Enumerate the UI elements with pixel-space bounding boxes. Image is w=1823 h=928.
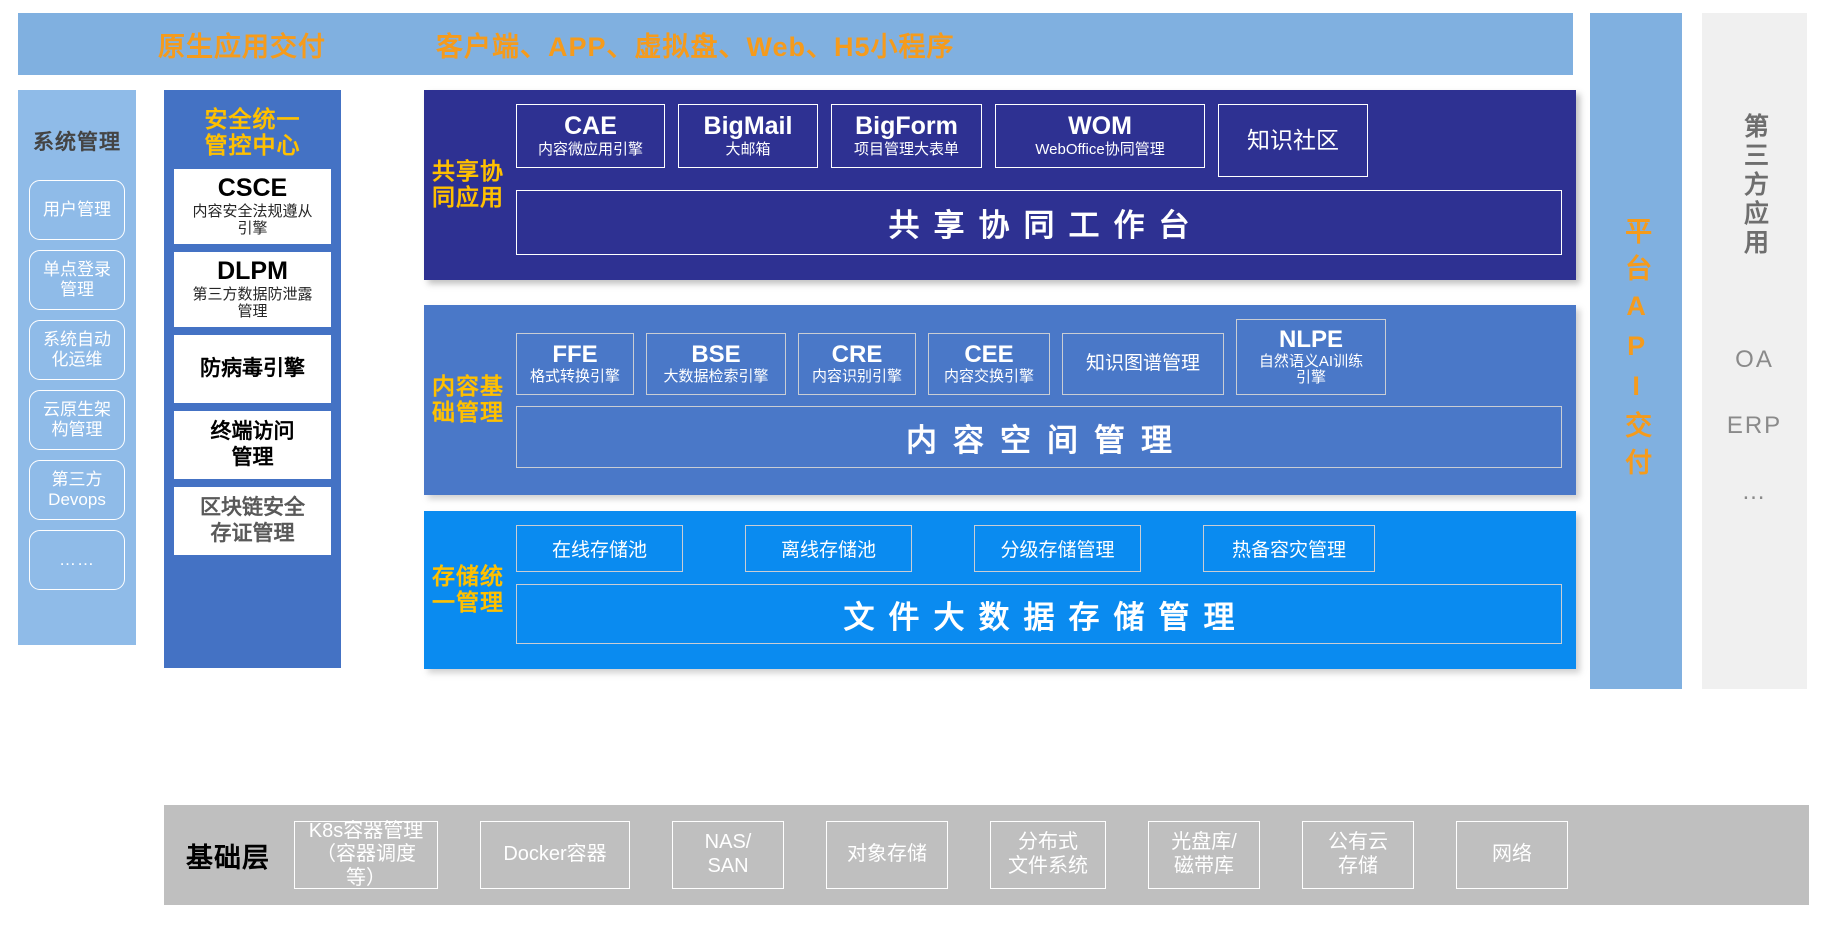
engine-knowledge-graph[interactable]: 知识图谱管理 [1062, 333, 1224, 395]
security-control-center-title: 安全统一管控中心 [205, 107, 301, 159]
architecture-diagram: 原生应用交付 客户端、APP、虚拟盘、Web、H5小程序 平台API交付 第三方… [0, 0, 1823, 928]
security-item-dlpm-acronym: DLPM [217, 258, 288, 286]
app-knowledge-community-label: 知识社区 [1247, 128, 1339, 153]
storage-management-label: 存储统一管理 [424, 511, 512, 669]
app-bigform-acronym: BigForm [855, 113, 958, 140]
foundation-layer-section: 基础层 K8s容器管理（容器调度等） Docker容器 NAS/SAN 对象存储… [164, 805, 1809, 905]
security-item-dlpm[interactable]: DLPM 第三方数据防泄露管理 [174, 252, 331, 327]
engine-cre-acronym: CRE [832, 342, 883, 368]
foundation-item-nas-san[interactable]: NAS/SAN [672, 821, 784, 889]
security-item-csce-subtitle: 内容安全法规遵从引擎 [192, 203, 312, 238]
native-app-delivery-banner: 原生应用交付 客户端、APP、虚拟盘、Web、H5小程序 [18, 13, 1573, 75]
engine-cre[interactable]: CRE 内容识别引擎 [798, 333, 916, 395]
sysmgmt-item-third-party-devops[interactable]: 第三方Devops [29, 460, 125, 520]
security-item-csce[interactable]: CSCE 内容安全法规遵从引擎 [174, 169, 331, 244]
security-item-antivirus-engine[interactable]: 防病毒引擎 [174, 335, 331, 403]
app-cae-acronym: CAE [564, 113, 617, 140]
system-management-column: 系统管理 用户管理 单点登录管理 系统自动化运维 云原生架构管理 第三方Devo… [18, 90, 136, 645]
shared-collaboration-body: CAE 内容微应用引擎 BigMail 大邮箱 BigForm 项目管理大表单 … [512, 90, 1576, 280]
security-item-antivirus-engine-label: 防病毒引擎 [200, 356, 305, 381]
foundation-item-docker[interactable]: Docker容器 [480, 821, 630, 889]
engine-bse-subtitle: 大数据检索引擎 [663, 369, 768, 386]
third-party-item-oa: OA [1735, 346, 1774, 374]
app-bigmail[interactable]: BigMail 大邮箱 [678, 104, 818, 168]
security-item-blockchain-evidence[interactable]: 区块链安全存证管理 [174, 487, 331, 555]
sysmgmt-item-sso-management[interactable]: 单点登录管理 [29, 250, 125, 310]
content-foundation-app-list: FFE 格式转换引擎 BSE 大数据检索引擎 CRE 内容识别引擎 CEE 内容… [516, 319, 1562, 395]
content-foundation-body: FFE 格式转换引擎 BSE 大数据检索引擎 CRE 内容识别引擎 CEE 内容… [512, 305, 1576, 495]
app-wom-acronym: WOM [1068, 113, 1132, 140]
storage-hot-backup-dr[interactable]: 热备容灾管理 [1203, 525, 1375, 572]
foundation-item-network[interactable]: 网络 [1456, 821, 1568, 889]
sysmgmt-item-user-management[interactable]: 用户管理 [29, 180, 125, 240]
engine-bse-acronym: BSE [691, 342, 740, 368]
platform-api-delivery-label: 平台API交付 [1622, 217, 1650, 485]
storage-tiered-management[interactable]: 分级存储管理 [974, 525, 1141, 572]
app-wom[interactable]: WOM WebOffice协同管理 [995, 104, 1205, 168]
app-bigmail-acronym: BigMail [704, 113, 793, 140]
system-management-title: 系统管理 [33, 126, 121, 156]
engine-ffe-subtitle: 格式转换引擎 [530, 369, 620, 386]
app-knowledge-community[interactable]: 知识社区 [1218, 104, 1368, 177]
shared-collaboration-section: 共享协同应用 CAE 内容微应用引擎 BigMail 大邮箱 BigForm 项… [424, 90, 1576, 280]
foundation-layer-item-list: K8s容器管理（容器调度等） Docker容器 NAS/SAN 对象存储 分布式… [294, 821, 1787, 889]
platform-api-delivery-column: 平台API交付 [1590, 13, 1682, 689]
engine-cre-subtitle: 内容识别引擎 [812, 369, 902, 386]
foundation-item-optical-tape-library[interactable]: 光盘库/磁带库 [1148, 821, 1260, 889]
app-bigform[interactable]: BigForm 项目管理大表单 [831, 104, 982, 168]
engine-nlpe-subtitle: 自然语义AI训练引擎 [1259, 354, 1363, 388]
storage-pool-online[interactable]: 在线存储池 [516, 525, 683, 572]
app-bigmail-subtitle: 大邮箱 [725, 141, 770, 158]
security-item-endpoint-access-label: 终端访问管理 [211, 419, 295, 469]
engine-cee-acronym: CEE [964, 342, 1013, 368]
security-item-endpoint-access[interactable]: 终端访问管理 [174, 411, 331, 479]
shared-collaboration-app-list: CAE 内容微应用引擎 BigMail 大邮箱 BigForm 项目管理大表单 … [516, 104, 1562, 177]
engine-nlpe-acronym: NLPE [1279, 327, 1343, 353]
app-wom-subtitle: WebOffice协同管理 [1035, 141, 1164, 158]
foundation-item-k8s[interactable]: K8s容器管理（容器调度等） [294, 821, 438, 889]
engine-cee-subtitle: 内容交换引擎 [944, 369, 1034, 386]
storage-pool-list: 在线存储池 离线存储池 分级存储管理 热备容灾管理 [516, 525, 1562, 572]
sysmgmt-item-more[interactable]: …… [29, 530, 125, 590]
sysmgmt-item-automated-ops[interactable]: 系统自动化运维 [29, 320, 125, 380]
app-cae[interactable]: CAE 内容微应用引擎 [516, 104, 665, 168]
third-party-item-erp: ERP [1727, 412, 1782, 440]
content-foundation-section: 内容基础管理 FFE 格式转换引擎 BSE 大数据检索引擎 CRE 内容识别引擎… [424, 305, 1576, 495]
foundation-item-public-cloud-storage[interactable]: 公有云存储 [1302, 821, 1414, 889]
engine-bse[interactable]: BSE 大数据检索引擎 [646, 333, 786, 395]
security-item-blockchain-evidence-label: 区块链安全存证管理 [200, 495, 305, 545]
storage-management-section: 存储统一管理 在线存储池 离线存储池 分级存储管理 热备容灾管理 文件大数据存储… [424, 511, 1576, 669]
foundation-item-distributed-fs[interactable]: 分布式文件系统 [990, 821, 1106, 889]
banner-right-label: 客户端、APP、虚拟盘、Web、H5小程序 [436, 25, 955, 64]
sysmgmt-item-cloud-native-arch[interactable]: 云原生架构管理 [29, 390, 125, 450]
file-bigdata-storage-management[interactable]: 文件大数据存储管理 [516, 584, 1562, 644]
third-party-item-more: … [1742, 478, 1768, 506]
security-control-center-column: 安全统一管控中心 CSCE 内容安全法规遵从引擎 DLPM 第三方数据防泄露管理… [164, 90, 341, 668]
content-foundation-label: 内容基础管理 [424, 305, 512, 495]
shared-collaboration-label: 共享协同应用 [424, 90, 512, 280]
storage-pool-offline[interactable]: 离线存储池 [745, 525, 912, 572]
engine-nlpe[interactable]: NLPE 自然语义AI训练引擎 [1236, 319, 1386, 395]
security-item-csce-acronym: CSCE [218, 175, 287, 203]
banner-left-label: 原生应用交付 [158, 25, 326, 64]
security-item-dlpm-subtitle: 第三方数据防泄露管理 [192, 286, 312, 321]
foundation-item-object-storage[interactable]: 对象存储 [826, 821, 948, 889]
engine-knowledge-graph-label: 知识图谱管理 [1086, 354, 1200, 375]
app-cae-subtitle: 内容微应用引擎 [538, 141, 643, 158]
engine-ffe-acronym: FFE [552, 342, 597, 368]
engine-cee[interactable]: CEE 内容交换引擎 [928, 333, 1050, 395]
storage-management-body: 在线存储池 离线存储池 分级存储管理 热备容灾管理 文件大数据存储管理 [512, 511, 1576, 669]
content-space-management[interactable]: 内容空间管理 [516, 406, 1562, 468]
third-party-apps-column: 第三方应用 OA ERP … [1702, 13, 1807, 689]
engine-ffe[interactable]: FFE 格式转换引擎 [516, 333, 634, 395]
third-party-apps-title: 第三方应用 [1737, 113, 1773, 258]
app-bigform-subtitle: 项目管理大表单 [854, 141, 959, 158]
shared-collaboration-workbench[interactable]: 共享协同工作台 [516, 190, 1562, 255]
foundation-layer-title: 基础层 [186, 836, 270, 875]
